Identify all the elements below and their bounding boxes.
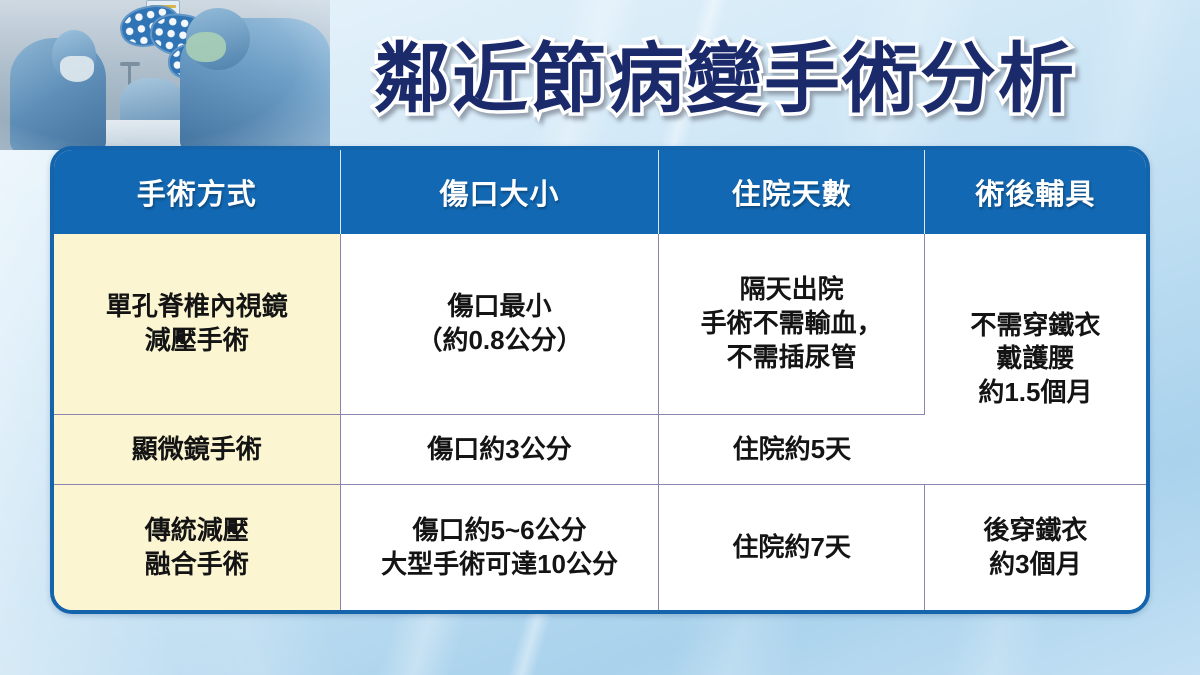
cell-text-line: 約3個月	[931, 548, 1140, 582]
cell-wound-size: 傷口約5~6公分大型手術可達10公分	[340, 485, 659, 610]
cell-text-line: （約0.8公分）	[347, 324, 653, 358]
cell-wound-size: 傷口約3公分	[340, 415, 659, 485]
table-body: 單孔脊椎內視鏡減壓手術傷口最小（約0.8公分）隔天出院手術不需輸血，不需插尿管不…	[54, 234, 1146, 610]
operating-room-photo	[0, 0, 330, 150]
cell-text-line: 住院約5天	[665, 433, 918, 467]
cell-text-line: 單孔脊椎內視鏡	[60, 290, 334, 324]
cell-hospital-days: 住院約5天	[659, 415, 924, 485]
cell-text-line: 大型手術可達10公分	[347, 548, 653, 582]
surgery-comparison-table: 手術方式 傷口大小 住院天數 術後輔具 單孔脊椎內視鏡減壓手術傷口最小（約0.8…	[54, 150, 1146, 610]
cell-hospital-days: 住院約7天	[659, 485, 924, 610]
table-row: 單孔脊椎內視鏡減壓手術傷口最小（約0.8公分）隔天出院手術不需輸血，不需插尿管不…	[54, 234, 1146, 415]
table-header-row: 手術方式 傷口大小 住院天數 術後輔具	[54, 150, 1146, 234]
cell-text-line: 傷口約3公分	[347, 433, 653, 467]
cell-text-line: 手術不需輸血，	[665, 307, 917, 341]
cell-text-line: 不需插尿管	[665, 341, 917, 375]
cell-hospital-days: 隔天出院手術不需輸血，不需插尿管	[659, 234, 924, 415]
cell-post-op-brace: 後穿鐵衣約3個月	[924, 485, 1146, 610]
cell-text-line: 約1.5個月	[931, 376, 1140, 410]
page-title: 鄰近節病變手術分析	[330, 22, 1120, 122]
cell-wound-size: 傷口最小（約0.8公分）	[340, 234, 659, 415]
cell-text-line: 後穿鐵衣	[931, 514, 1140, 548]
cell-surgery-method: 顯微鏡手術	[54, 415, 340, 485]
cell-text-line: 減壓手術	[60, 324, 334, 358]
surgical-mask-icon	[186, 32, 226, 62]
cell-text-line: 戴護腰	[931, 342, 1140, 376]
column-header-brace: 術後輔具	[924, 150, 1146, 234]
cell-post-op-brace: 不需穿鐵衣戴護腰約1.5個月	[924, 234, 1146, 485]
cell-text-line: 傷口約5~6公分	[347, 514, 653, 548]
cell-text-line: 傳統減壓	[60, 514, 334, 548]
column-header-method: 手術方式	[54, 150, 340, 234]
cell-text-line: 融合手術	[60, 548, 334, 582]
cell-text-line: 不需穿鐵衣	[931, 309, 1140, 343]
cell-surgery-method: 傳統減壓融合手術	[54, 485, 340, 610]
cell-surgery-method: 單孔脊椎內視鏡減壓手術	[54, 234, 340, 415]
table-row: 傳統減壓融合手術傷口約5~6公分大型手術可達10公分住院約7天後穿鐵衣約3個月	[54, 485, 1146, 610]
surgical-mask-icon	[60, 56, 94, 82]
cell-text-line: 住院約7天	[665, 531, 917, 565]
cell-text-line: 顯微鏡手術	[60, 433, 334, 467]
column-header-wound: 傷口大小	[340, 150, 659, 234]
cell-text-line: 隔天出院	[665, 273, 917, 307]
comparison-table: 手術方式 傷口大小 住院天數 術後輔具 單孔脊椎內視鏡減壓手術傷口最小（約0.8…	[50, 146, 1150, 614]
column-header-stay: 住院天數	[659, 150, 924, 234]
cell-text-line: 傷口最小	[347, 290, 653, 324]
slide-canvas: 鄰近節病變手術分析 手術方式 傷口大小 住院天數 術後輔具 單孔脊椎內視鏡減壓手…	[0, 0, 1200, 675]
